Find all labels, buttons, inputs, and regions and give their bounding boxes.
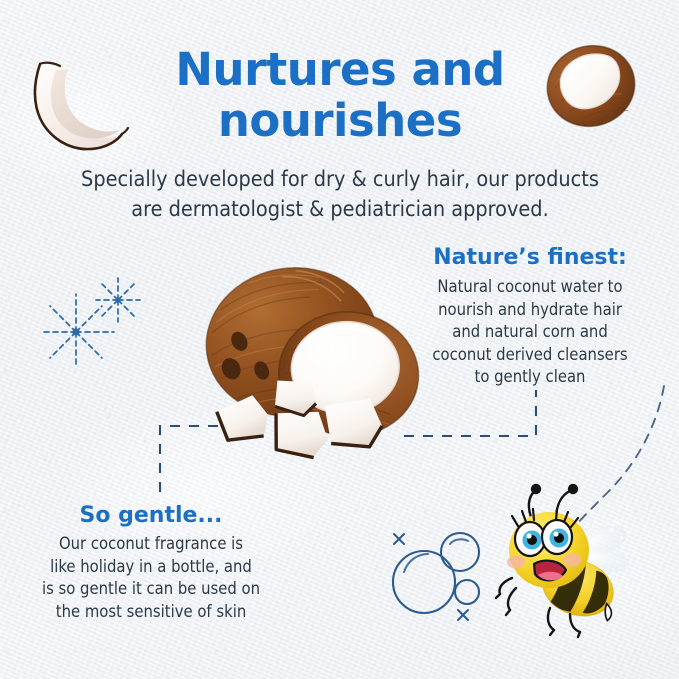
dashed-connector-right-icon xyxy=(400,390,560,460)
page-title: Nurtures and nourishes xyxy=(110,44,570,147)
subtitle: Specially developed for dry & curly hair… xyxy=(44,165,636,224)
so-gentle-body: Our coconut fragrance is like holiday in… xyxy=(22,533,280,623)
so-gentle-block: So gentle... Our coconut fragrance is li… xyxy=(22,504,280,623)
coconut-whole-and-half-icon xyxy=(196,256,426,471)
infographic-canvas: Nurtures and nourishes Specially develop… xyxy=(0,0,679,679)
natures-finest-heading: Nature’s finest: xyxy=(418,246,642,270)
natures-finest-body: Natural coconut water to nourish and hyd… xyxy=(418,276,642,388)
natures-finest-block: Nature’s finest: Natural coconut water t… xyxy=(418,246,642,388)
natures-finest-line-5: to gently clean xyxy=(418,366,642,388)
natures-finest-line-1: Natural coconut water to xyxy=(418,276,642,298)
natures-finest-line-4: coconut derived cleansers xyxy=(418,344,642,366)
sparkle-burst-icon xyxy=(32,272,144,376)
natures-finest-line-2: nourish and hydrate hair xyxy=(418,299,642,321)
so-gentle-heading: So gentle... xyxy=(22,504,280,528)
so-gentle-line-4: the most sensitive of skin xyxy=(22,601,280,623)
so-gentle-line-3: is so gentle it can be used on xyxy=(22,578,280,600)
bee-character-icon xyxy=(494,482,644,637)
so-gentle-line-2: like holiday in a bottle, and xyxy=(22,556,280,578)
natures-finest-line-3: and natural corn and xyxy=(418,321,642,343)
dashed-connector-left-icon xyxy=(140,400,230,520)
subtitle-line-2: are dermatologist & pediatrician approve… xyxy=(44,195,636,225)
bubbles-icon xyxy=(384,524,494,624)
so-gentle-line-1: Our coconut fragrance is xyxy=(22,533,280,555)
subtitle-line-1: Specially developed for dry & curly hair… xyxy=(44,165,636,195)
